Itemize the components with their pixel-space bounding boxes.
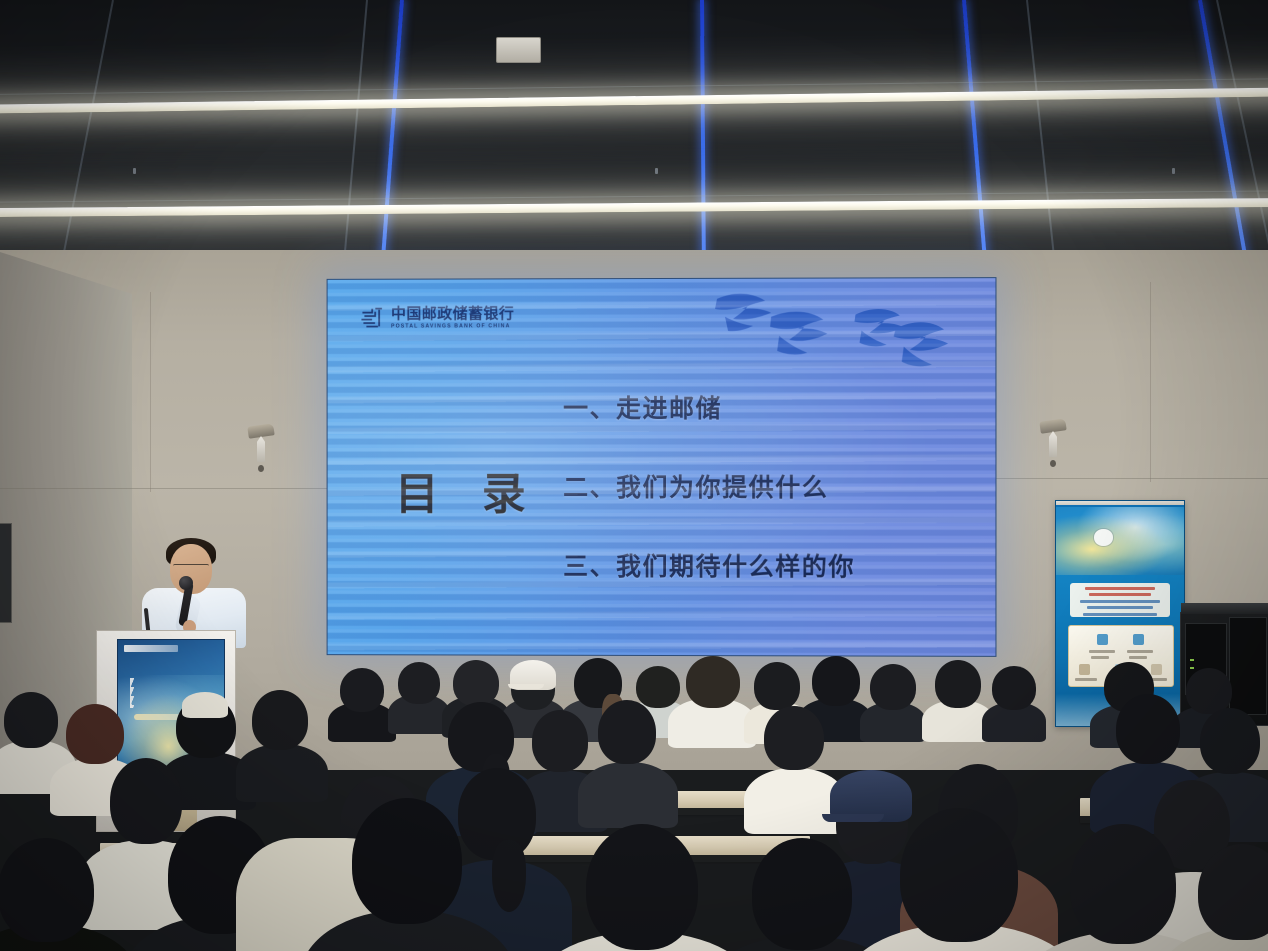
led-presentation-screen[interactable]: 中国邮政储蓄银行 POSTAL SAVINGS BANK OF CHINA (327, 277, 997, 657)
glasses-icon (173, 564, 209, 573)
rack-top-shelf (1181, 603, 1268, 614)
hair-accessory-icon (182, 692, 228, 718)
brand-name-cn: 中国邮政储蓄银行 (391, 307, 514, 322)
audience-person (756, 706, 830, 802)
ceiling-fixture-dot (133, 168, 136, 174)
toc-item-2[interactable]: 二、我们为你提供什么 (563, 468, 984, 504)
banner-top-rail (1055, 500, 1185, 505)
ceiling (0, 0, 1268, 292)
ceiling-blue-led-strip (962, 0, 989, 291)
audience-person (334, 668, 390, 724)
ceiling-blue-led-strip (700, 0, 706, 292)
microphone-head-icon (179, 576, 193, 590)
psbc-logo: 中国邮政储蓄银行 POSTAL SAVINGS BANK OF CHINA (359, 305, 514, 331)
ceiling-blue-led-strip (379, 0, 404, 291)
wall-seam (150, 292, 151, 492)
audience-person (1046, 824, 1196, 951)
lecture-hall-scene: 中国邮政储蓄银行 POSTAL SAVINGS BANK OF CHINA (0, 0, 1268, 951)
slide-canvas: 中国邮政储蓄银行 POSTAL SAVINGS BANK OF CHINA (327, 277, 997, 657)
wall-seam (0, 488, 330, 489)
wall-sprinkler-icon (248, 425, 278, 475)
wall-access-panel-icon (0, 523, 12, 623)
ceiling-grid-line (341, 0, 368, 291)
ceiling-grid-line (1026, 0, 1059, 291)
psbc-logo-icon (359, 306, 385, 332)
audience-person (330, 798, 480, 951)
audience-person (930, 660, 986, 724)
ceiling-fixture-dot (655, 168, 658, 174)
audience-person (872, 808, 1042, 951)
audience-person (866, 664, 920, 724)
audience-person (394, 662, 444, 718)
audience-person (246, 690, 314, 774)
audience-person (730, 838, 870, 951)
banner-text-box (1070, 583, 1170, 617)
cat-mascot-icon (1094, 529, 1113, 546)
slide-content: 目 录 一、走进邮储 二、我们为你提供什么 三、我们期待什么样的你 (328, 375, 997, 606)
toc-heading: 目 录 (395, 458, 540, 522)
toc-item-3[interactable]: 三、我们期待什么样的你 (563, 547, 984, 584)
toc-item-1[interactable]: 一、走进邮储 (563, 389, 984, 425)
audience-person (560, 824, 720, 951)
audience-person (678, 656, 746, 726)
ceiling-grid-line (56, 0, 114, 287)
flying-swallows-icon (709, 286, 985, 372)
audience-person (590, 700, 662, 796)
audience-person (0, 692, 64, 770)
toc-list: 一、走进邮储 二、我们为你提供什么 三、我们期待什么样的你 (563, 375, 984, 606)
wall-seam (1150, 282, 1151, 482)
brand-name-en: POSTAL SAVINGS BANK OF CHINA (391, 325, 514, 330)
audience-person (0, 838, 110, 951)
ceiling-vent-icon (496, 37, 541, 63)
ceiling-fixture-dot (1172, 168, 1175, 174)
wall-seam (995, 478, 1268, 479)
audience-person (988, 666, 1040, 724)
wall-sprinkler-icon (1040, 420, 1070, 470)
audience-area (0, 648, 1268, 951)
banner-illustration (1056, 507, 1184, 575)
audience-person (1182, 844, 1268, 951)
